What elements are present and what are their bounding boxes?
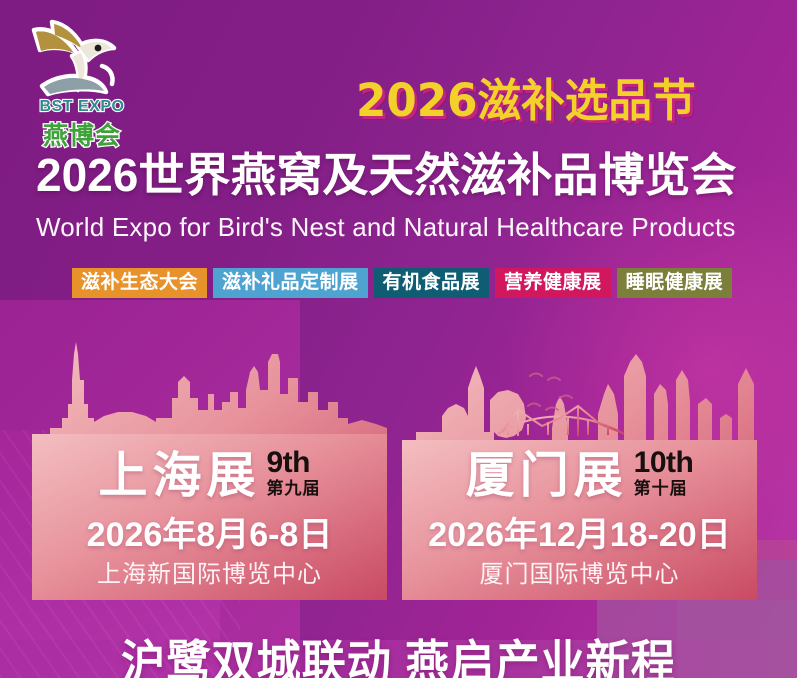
tag-item[interactable]: 有机食品展 xyxy=(374,268,490,298)
tag-item[interactable]: 滋补礼品定制展 xyxy=(213,268,368,298)
logo-cn-text: 燕博会 xyxy=(26,116,138,152)
tag-item[interactable]: 睡眠健康展 xyxy=(617,268,733,298)
event-date: 2026年8月6-8日 xyxy=(32,507,387,556)
event-date: 2026年12月18-20日 xyxy=(402,507,757,556)
city-name: 上海展 xyxy=(98,452,260,501)
promo-banner: BST EXPO 燕博会 2026滋补选品节 2026世界燕窝及天然滋补品博览会… xyxy=(0,0,797,678)
edition-number-en: 10th xyxy=(634,448,694,478)
event-venue: 上海新国际博览中心 xyxy=(32,554,387,589)
footer-slogan: 沪鹭双城联动 燕启产业新程 xyxy=(24,624,773,678)
brand-logo: BST EXPO 燕博会 xyxy=(22,12,140,142)
city-card-shanghai[interactable]: 上海展 9th 第九届 2026年8月6-8日 上海新国际博览中心 xyxy=(32,332,387,600)
bird-nest-logo-icon xyxy=(22,12,140,104)
tag-item[interactable]: 营养健康展 xyxy=(495,268,611,298)
page-title: 2026世界燕窝及天然滋补品博览会 xyxy=(36,152,776,200)
event-venue: 厦门国际博览中心 xyxy=(402,554,757,589)
logo-en-text: BST EXPO xyxy=(30,98,134,116)
tag-item[interactable]: 滋补生态大会 xyxy=(72,268,207,298)
category-tag-list: 滋补生态大会 滋补礼品定制展 有机食品展 营养健康展 睡眠健康展 xyxy=(72,268,732,298)
festival-headline: 2026滋补选品节 xyxy=(356,78,696,123)
city-card-xiamen[interactable]: 厦门展 10th 第十届 2026年12月18-20日 厦门国际博览中心 xyxy=(402,332,757,600)
edition-number-cn: 第十届 xyxy=(634,478,688,499)
edition-number-cn: 第九届 xyxy=(267,478,321,499)
page-subtitle: World Expo for Bird's Nest and Natural H… xyxy=(36,212,776,243)
edition-number-en: 9th xyxy=(267,448,311,478)
city-name: 厦门展 xyxy=(466,452,628,501)
